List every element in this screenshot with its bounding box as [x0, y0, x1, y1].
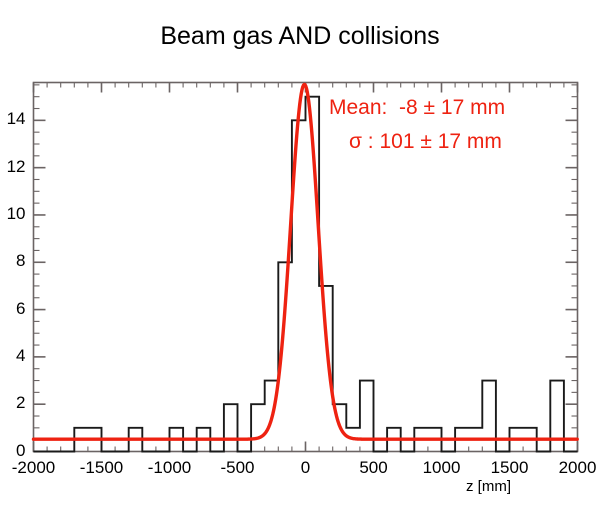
fit-sigma-annotation: σ : 101 ± 17 mm — [349, 130, 502, 154]
x-tick-label: 2000 — [538, 458, 600, 478]
y-tick-label: 2 — [0, 393, 26, 413]
y-tick-label: 6 — [0, 299, 26, 319]
x-axis-title: z [mm] — [466, 478, 511, 495]
y-tick-label: 14 — [0, 109, 26, 129]
y-tick-label: 4 — [0, 346, 26, 366]
y-tick-label: 10 — [0, 204, 26, 224]
y-tick-label: 0 — [0, 441, 26, 461]
fit-mean-annotation: Mean: -8 ± 17 mm — [329, 96, 505, 120]
y-tick-label: 12 — [0, 157, 26, 177]
chart-figure: Beam gas AND collisions Mean: -8 ± 17 mm… — [0, 0, 600, 516]
y-tick-label: 8 — [0, 251, 26, 271]
plot-canvas — [0, 0, 600, 516]
